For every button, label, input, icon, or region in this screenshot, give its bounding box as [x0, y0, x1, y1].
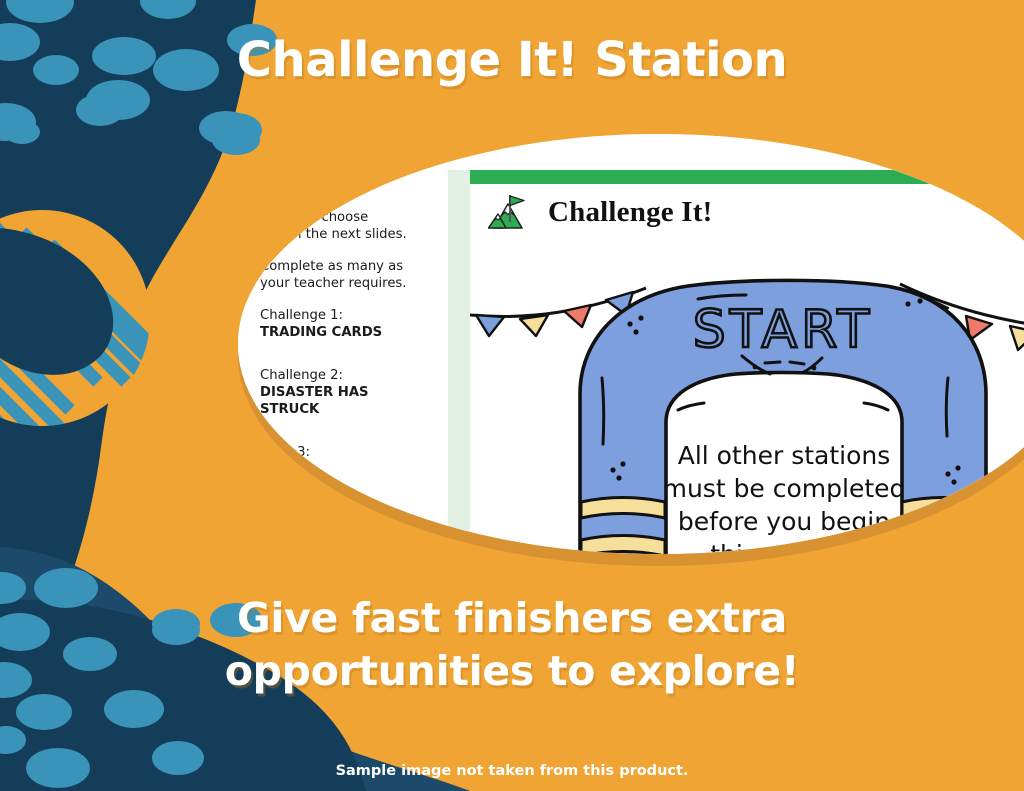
- striped-circle: [0, 205, 170, 538]
- challenge-2-block: Challenge 2: DISASTER HAS STRUCK: [260, 367, 444, 418]
- tagline-line-1: Give fast finishers extra: [0, 592, 1024, 645]
- mountain-flag-icon: [488, 192, 534, 232]
- disclaimer-text: Sample image not taken from this product…: [0, 763, 1024, 779]
- challenge-2-label: Challenge 2:: [260, 368, 343, 383]
- intro-paragraph: e four enges to choose om on the next sl…: [260, 192, 444, 243]
- page-title: Challenge It! Station: [0, 32, 1024, 88]
- challenge-2-title-line-2: STRUCK: [260, 402, 319, 417]
- intro-line-2: enges to choose: [260, 210, 368, 225]
- instruction-line-2: your teacher requires.: [260, 276, 407, 291]
- challenge-it-title: Challenge It!: [548, 196, 713, 229]
- slide-preview-oval: e four enges to choose om on the next sl…: [238, 134, 1024, 554]
- challenge-1-title: TRADING CARDS: [260, 325, 382, 340]
- arch-note: All other stations must be completed bef…: [663, 441, 906, 554]
- challenge-1-label: Challenge 1:: [260, 308, 343, 323]
- arch-note-line-4: this station.: [710, 540, 858, 554]
- arch-note-line-3: before you begin: [678, 507, 890, 536]
- spacer: [260, 356, 444, 367]
- spacer: [260, 433, 444, 444]
- slide-gutter: [448, 170, 470, 554]
- instruction-line-1: Complete as many as: [260, 259, 403, 274]
- slide-preview: e four enges to choose om on the next sl…: [238, 134, 1024, 554]
- challenge-3-title: IT: [260, 462, 274, 477]
- start-arch-illustration: START All other stations must be complet…: [470, 274, 1024, 554]
- intro-line-1: e four: [260, 193, 299, 208]
- challenge-3-block: enge 3: IT: [260, 444, 444, 478]
- start-arch-label: START: [693, 300, 873, 360]
- poster-canvas: Challenge It! Station e four enges to ch…: [0, 0, 1024, 791]
- intro-line-3: om on the next slides.: [260, 227, 407, 242]
- challenge-2-title-line-1: DISASTER HAS: [260, 385, 369, 400]
- slide-green-header-bar: [470, 170, 1024, 184]
- left-panel-text: e four enges to choose om on the next sl…: [260, 192, 444, 493]
- challenge-it-header: Challenge It!: [488, 192, 713, 232]
- arch-note-line-2: must be completed: [663, 474, 906, 503]
- start-arch-svg: START All other stations must be complet…: [470, 274, 1024, 554]
- instruction-paragraph: Complete as many as your teacher require…: [260, 258, 444, 292]
- challenge-1-block: Challenge 1: TRADING CARDS: [260, 307, 444, 341]
- tagline: Give fast finishers extra opportunities …: [0, 592, 1024, 698]
- arch-note-line-1: All other stations: [678, 441, 891, 470]
- challenge-3-label: enge 3:: [260, 445, 310, 460]
- tagline-line-2: opportunities to explore!: [0, 645, 1024, 698]
- navy-blob-overlap: [0, 228, 113, 375]
